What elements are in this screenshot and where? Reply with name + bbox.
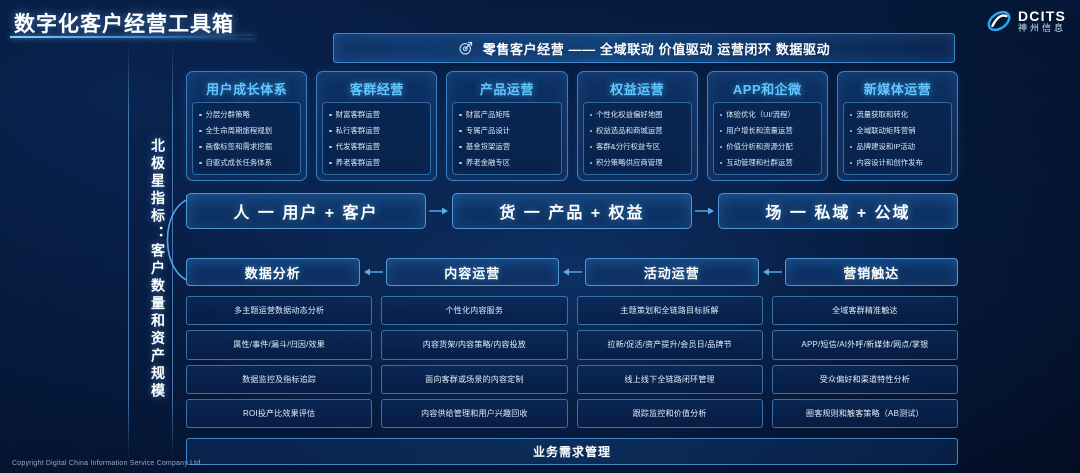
bullet-text: 财富客群运营 bbox=[336, 110, 380, 119]
card-bullet: 专属产品设计 bbox=[459, 126, 557, 135]
card-body: 财富产品矩阵 专属产品设计 基金货架运营 养老金融专区 bbox=[452, 102, 561, 175]
bullet-dot-icon bbox=[590, 130, 593, 133]
card-bullet: 积分策略供应商管理 bbox=[590, 158, 688, 167]
slide-canvas: 数字化客户经营工具箱 DCITS 神州信息 北极星指标：客户数量和资产规模 零售… bbox=[0, 0, 1080, 473]
operation-content[interactable]: 内容运营 bbox=[386, 258, 560, 286]
card-customer-group[interactable]: 客群经营 财富客群运营 私行客群运营 代发客群运营 养老客群运营 bbox=[316, 71, 437, 181]
card-product-operation[interactable]: 产品运营 财富产品矩阵 专属产品设计 基金货架运营 养老金融专区 bbox=[446, 71, 567, 181]
pillar-place[interactable]: 场 一 私域 + 公域 bbox=[718, 193, 958, 229]
card-bullet: 自驱式成长任务体系 bbox=[199, 158, 297, 167]
card-bullet: 内容设计和创作发布 bbox=[850, 158, 948, 167]
bullet-text: 互动管理和社群运营 bbox=[726, 158, 793, 167]
arrow-right-icon bbox=[694, 206, 716, 216]
card-title: APP和企微 bbox=[713, 76, 822, 102]
bullet-dot-icon bbox=[459, 114, 462, 117]
card-bullet: 财富客群运营 bbox=[329, 110, 427, 119]
card-bullet: 代发客群运营 bbox=[329, 142, 427, 151]
title-underline bbox=[10, 36, 255, 38]
card-bullet: 流量获取和转化 bbox=[850, 110, 948, 119]
card-bullet: 客群&分行权益专区 bbox=[590, 142, 688, 151]
card-body: 分层分群策略 全生命周期旅程规划 画像标签和需求挖掘 自驱式成长任务体系 bbox=[192, 102, 301, 175]
operation-arrow-2 bbox=[559, 267, 585, 277]
bullet-dot-icon bbox=[850, 162, 853, 165]
divider-left-outer bbox=[128, 40, 129, 460]
detail-column-content: 个性化内容服务 内容货架/内容策略/内容投放 面向客群或场景的内容定制 内容供给… bbox=[381, 296, 567, 428]
arrow-left-icon bbox=[362, 267, 384, 277]
bullet-dot-icon bbox=[850, 146, 853, 149]
card-user-growth[interactable]: 用户成长体系 分层分群策略 全生命周期旅程规划 画像标签和需求挖掘 自驱式成长任… bbox=[186, 71, 307, 181]
card-bullet: 养老金融专区 bbox=[459, 158, 557, 167]
bullet-dot-icon bbox=[199, 146, 202, 149]
detail-cell[interactable]: 受众偏好和渠道特性分析 bbox=[772, 365, 958, 394]
operation-campaign[interactable]: 活动运营 bbox=[585, 258, 759, 286]
detail-cell[interactable]: 属性/事件/漏斗/归因/效果 bbox=[186, 330, 372, 359]
bullet-text: 基金货架运营 bbox=[466, 142, 510, 151]
operations-row: 数据分析 内容运营 活动运营 营销触达 bbox=[186, 258, 958, 286]
bullet-dot-icon bbox=[459, 130, 462, 133]
card-bullet: 基金货架运营 bbox=[459, 142, 557, 151]
operations-detail-grid: 多主题运营数据动态分析 属性/事件/漏斗/归因/效果 数据监控及指标追踪 ROI… bbox=[186, 296, 958, 428]
strategy-banner: 零售客户经营 —— 全域联动 价值驱动 运营闭环 数据驱动 bbox=[333, 33, 955, 63]
bullet-text: 私行客群运营 bbox=[336, 126, 380, 135]
card-title: 客群经营 bbox=[322, 76, 431, 102]
banner-text: 零售客户经营 —— 全域联动 价值驱动 运营闭环 数据驱动 bbox=[483, 39, 830, 58]
detail-cell[interactable]: 线上线下全链路闭环管理 bbox=[577, 365, 763, 394]
bullet-dot-icon bbox=[720, 114, 723, 117]
bullet-dot-icon bbox=[850, 114, 853, 117]
bullet-dot-icon bbox=[720, 162, 723, 165]
card-bullet: 画像标签和需求挖掘 bbox=[199, 142, 297, 151]
card-benefits-operation[interactable]: 权益运营 个性化权益偏好地图 权益选品和商城运营 客群&分行权益专区 积分策略供… bbox=[577, 71, 698, 181]
detail-column-campaign: 主题策划和全链路目标拆解 拉新/促活/资产提升/会员日/品牌节 线上线下全链路闭… bbox=[577, 296, 763, 428]
bullet-text: 自驱式成长任务体系 bbox=[206, 158, 273, 167]
card-bullet: 用户增长和流量运营 bbox=[720, 126, 818, 135]
card-bullet: 个性化权益偏好地图 bbox=[590, 110, 688, 119]
card-bullet: 权益选品和商城运营 bbox=[590, 126, 688, 135]
bullet-dot-icon bbox=[850, 130, 853, 133]
card-app-wecom[interactable]: APP和企微 体验优化（UI/流程） 用户增长和流量运营 价值分析和资源分配 互… bbox=[707, 71, 828, 181]
bullet-dot-icon bbox=[199, 162, 202, 165]
operation-data-analysis[interactable]: 数据分析 bbox=[186, 258, 360, 286]
business-requirement-bar[interactable]: 业务需求管理 bbox=[186, 438, 958, 465]
bullet-text: 流量获取和转化 bbox=[856, 110, 908, 119]
card-bullet: 品牌建设和IP活动 bbox=[850, 142, 948, 151]
card-bullet: 分层分群策略 bbox=[199, 110, 297, 119]
detail-cell[interactable]: 跟踪监控和价值分析 bbox=[577, 399, 763, 428]
bullet-dot-icon bbox=[329, 162, 332, 165]
bullet-text: 全域联动矩阵营销 bbox=[856, 126, 915, 135]
bullet-dot-icon bbox=[329, 146, 332, 149]
bullet-dot-icon bbox=[199, 130, 202, 133]
card-bullet: 全生命周期旅程规划 bbox=[199, 126, 297, 135]
detail-cell[interactable]: 全域客群精准触达 bbox=[772, 296, 958, 325]
dcits-swirl-icon bbox=[986, 8, 1012, 34]
bullet-text: 客群&分行权益专区 bbox=[596, 142, 660, 151]
card-title: 权益运营 bbox=[583, 76, 692, 102]
arrow-left-icon bbox=[561, 267, 583, 277]
bullet-dot-icon bbox=[590, 146, 593, 149]
bullet-text: 财富产品矩阵 bbox=[466, 110, 510, 119]
brand-logo: DCITS 神州信息 bbox=[986, 8, 1066, 34]
detail-cell[interactable]: 内容货架/内容策略/内容投放 bbox=[381, 330, 567, 359]
card-body: 体验优化（UI/流程） 用户增长和流量运营 价值分析和资源分配 互动管理和社群运… bbox=[713, 102, 822, 175]
card-bullet: 价值分析和资源分配 bbox=[720, 142, 818, 151]
target-arrow-icon bbox=[458, 40, 474, 56]
detail-cell[interactable]: 圈客规则和触客策略（AB测试） bbox=[772, 399, 958, 428]
card-bullet: 互动管理和社群运营 bbox=[720, 158, 818, 167]
detail-column-data-analysis: 多主题运营数据动态分析 属性/事件/漏斗/归因/效果 数据监控及指标追踪 ROI… bbox=[186, 296, 372, 428]
bullet-text: 体验优化（UI/流程） bbox=[726, 110, 795, 119]
bullet-dot-icon bbox=[720, 130, 723, 133]
detail-cell[interactable]: 主题策划和全链路目标拆解 bbox=[577, 296, 763, 325]
card-new-media[interactable]: 新媒体运营 流量获取和转化 全域联动矩阵营销 品牌建设和IP活动 内容设计和创作… bbox=[837, 71, 958, 181]
bullet-text: 画像标签和需求挖掘 bbox=[206, 142, 273, 151]
bullet-text: 权益选品和商城运营 bbox=[596, 126, 663, 135]
detail-cell[interactable]: ROI投产比效果评估 bbox=[186, 399, 372, 428]
bullet-dot-icon bbox=[459, 146, 462, 149]
bullet-text: 用户增长和流量运营 bbox=[726, 126, 793, 135]
pillar-arrow-1 bbox=[426, 206, 452, 216]
bullet-text: 养老客群运营 bbox=[336, 158, 380, 167]
detail-cell[interactable]: 多主题运营数据动态分析 bbox=[186, 296, 372, 325]
card-title: 产品运营 bbox=[452, 76, 561, 102]
detail-cell[interactable]: 拉新/促活/资产提升/会员日/品牌节 bbox=[577, 330, 763, 359]
logo-cn-text: 神州信息 bbox=[1018, 24, 1066, 33]
bullet-text: 个性化权益偏好地图 bbox=[596, 110, 663, 119]
operation-marketing-reach[interactable]: 营销触达 bbox=[785, 258, 959, 286]
card-bullet: 财富产品矩阵 bbox=[459, 110, 557, 119]
pillar-goods[interactable]: 货 一 产品 + 权益 bbox=[452, 193, 692, 229]
bullet-dot-icon bbox=[459, 162, 462, 165]
bullet-text: 全生命周期旅程规划 bbox=[206, 126, 273, 135]
bullet-text: 专属产品设计 bbox=[466, 126, 510, 135]
detail-column-marketing-reach: 全域客群精准触达 APP/短信/AI外呼/新媒体/网点/掌银 受众偏好和渠道特性… bbox=[772, 296, 958, 428]
arrow-right-icon bbox=[428, 206, 450, 216]
detail-cell[interactable]: 个性化内容服务 bbox=[381, 296, 567, 325]
copyright-text: Copyright Digital China Information Serv… bbox=[12, 460, 203, 467]
bullet-text: 内容设计和创作发布 bbox=[856, 158, 923, 167]
bullet-dot-icon bbox=[590, 114, 593, 117]
card-body: 财富客群运营 私行客群运营 代发客群运营 养老客群运营 bbox=[322, 102, 431, 175]
card-body: 流量获取和转化 全域联动矩阵营销 品牌建设和IP活动 内容设计和创作发布 bbox=[843, 102, 952, 175]
bullet-text: 养老金融专区 bbox=[466, 158, 510, 167]
card-bullet: 私行客群运营 bbox=[329, 126, 427, 135]
logo-en-text: DCITS bbox=[1018, 9, 1066, 24]
page-title: 数字化客户经营工具箱 bbox=[14, 8, 234, 38]
capability-cards: 用户成长体系 分层分群策略 全生命周期旅程规划 画像标签和需求挖掘 自驱式成长任… bbox=[186, 71, 958, 181]
operation-arrow-1 bbox=[360, 267, 386, 277]
card-bullet: 体验优化（UI/流程） bbox=[720, 110, 818, 119]
bullet-dot-icon bbox=[329, 114, 332, 117]
detail-cell[interactable]: 内容供给管理和用户兴趣回收 bbox=[381, 399, 567, 428]
bullet-dot-icon bbox=[720, 146, 723, 149]
detail-cell[interactable]: 面向客群或场景的内容定制 bbox=[381, 365, 567, 394]
detail-cell[interactable]: APP/短信/AI外呼/新媒体/网点/掌银 bbox=[772, 330, 958, 359]
bullet-text: 积分策略供应商管理 bbox=[596, 158, 663, 167]
arrow-left-icon bbox=[761, 267, 783, 277]
card-bullet: 全域联动矩阵营销 bbox=[850, 126, 948, 135]
bullet-dot-icon bbox=[199, 114, 202, 117]
bullet-dot-icon bbox=[590, 162, 593, 165]
bullet-text: 分层分群策略 bbox=[206, 110, 250, 119]
card-body: 个性化权益偏好地图 权益选品和商城运营 客群&分行权益专区 积分策略供应商管理 bbox=[583, 102, 692, 175]
card-title: 新媒体运营 bbox=[843, 76, 952, 102]
card-bullet: 养老客群运营 bbox=[329, 158, 427, 167]
bullet-dot-icon bbox=[329, 130, 332, 133]
card-title: 用户成长体系 bbox=[192, 76, 301, 102]
pillars-row: 人 一 用户 + 客户 货 一 产品 + 权益 场 一 私域 + 公域 bbox=[186, 193, 958, 229]
bullet-text: 品牌建设和IP活动 bbox=[856, 142, 915, 151]
bullet-text: 代发客群运营 bbox=[336, 142, 380, 151]
pillar-arrow-2 bbox=[692, 206, 718, 216]
bullet-text: 价值分析和资源分配 bbox=[726, 142, 793, 151]
pillar-people[interactable]: 人 一 用户 + 客户 bbox=[186, 193, 426, 229]
detail-cell[interactable]: 数据监控及指标追踪 bbox=[186, 365, 372, 394]
operation-arrow-3 bbox=[759, 267, 785, 277]
